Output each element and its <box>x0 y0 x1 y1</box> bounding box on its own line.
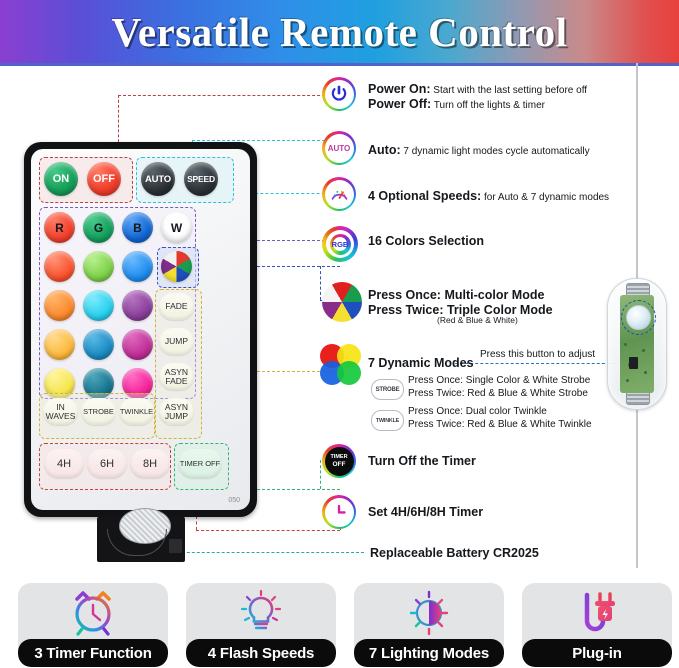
anno-power-lead2: Power Off: <box>368 97 431 111</box>
anno-set-timer-line: Set 4H/6H/8H Timer <box>368 505 483 519</box>
color-button-magenta-purple[interactable] <box>122 329 153 360</box>
page-title: Versatile Remote Control <box>0 0 679 63</box>
auto-glyph-label: AUTO <box>328 144 351 153</box>
button-timer-off-label: TIMER OFF <box>180 459 220 468</box>
remote-face: ON OFF AUTO SPEED R G B W <box>31 149 250 510</box>
color-button-white[interactable]: W <box>161 212 192 243</box>
button-asyn-fade-label: ASYN FADE <box>165 368 188 386</box>
card-flash-speeds[interactable]: 4 Flash Speeds <box>186 583 336 667</box>
button-fade[interactable]: FADE <box>159 293 194 320</box>
timer-off-icon: TIMER OFF <box>322 444 356 478</box>
strobe-pill-label: STROBE <box>376 387 400 393</box>
anno-auto-lead: Auto: <box>368 143 401 157</box>
button-off[interactable]: OFF <box>87 162 121 196</box>
led-marker-ring <box>621 300 656 335</box>
clock-l-icon <box>322 495 356 529</box>
color-button-light-green[interactable] <box>83 251 114 282</box>
connector-adjust <box>455 363 615 364</box>
connector-multicolor <box>247 266 340 267</box>
connector-timeroff <box>247 489 340 490</box>
anno-speed-rest: for Auto & 7 dynamic modes <box>481 192 609 203</box>
button-8h-label: 8H <box>143 458 157 470</box>
button-4h-label: 4H <box>57 458 71 470</box>
anno-strobe-row1: Press Once: Single Color & White Strobe <box>408 375 590 386</box>
lightbulb-icon <box>186 585 336 640</box>
anno-twinkle-row2: Press Twice: Red & Blue & White Twinkle <box>408 419 592 430</box>
button-auto[interactable]: AUTO <box>141 162 175 196</box>
button-speed[interactable]: SPEED <box>184 162 218 196</box>
card-timer-function-label: 3 Timer Function <box>18 639 168 667</box>
anno-rgb-line: 16 Colors Selection <box>368 234 484 248</box>
led-capsule <box>607 278 667 410</box>
button-strobe-label: STROBE <box>83 407 114 416</box>
color-button-orange-red[interactable] <box>44 251 75 282</box>
color-button-orange[interactable] <box>44 290 75 321</box>
color-button-purple[interactable] <box>122 290 153 321</box>
header-divider <box>0 63 679 66</box>
button-asyn-jump-label: ASYN JUMP <box>165 403 188 421</box>
speed-gauge-icon <box>322 177 356 211</box>
clock-l-glyph <box>328 501 350 523</box>
timer-glyph-top: TIMER <box>330 454 347 460</box>
alarm-clock-icon <box>18 585 168 640</box>
button-6h-label: 6H <box>100 458 114 470</box>
button-twinkle-label: TWINKLE <box>120 407 153 416</box>
remote-control: ON OFF AUTO SPEED R G B W <box>24 142 257 517</box>
anno-twinkle-row1: Press Once: Dual color Twinkle <box>408 406 547 417</box>
anno-power-line2: Power Off: Turn off the lights & timer <box>368 95 545 113</box>
card-flash-speeds-label: 4 Flash Speeds <box>186 639 336 667</box>
button-8h[interactable]: 8H <box>130 449 170 478</box>
timer-glyph-bottom: OFF <box>333 461 346 468</box>
button-strobe[interactable]: STROBE <box>81 398 116 425</box>
button-in-waves[interactable]: IN WAVES <box>43 398 78 425</box>
button-asyn-fade[interactable]: ASYN FADE <box>159 363 194 390</box>
color-button-cyan[interactable] <box>83 290 114 321</box>
anno-timeroff-line: Turn Off the Timer <box>368 454 476 468</box>
header-banner: Versatile Remote Control <box>0 0 679 63</box>
multicolor-button[interactable] <box>161 251 192 282</box>
button-jump-label: JUMP <box>165 337 188 346</box>
feature-cards: 3 Timer Function <box>0 583 679 668</box>
color-button-green[interactable]: G <box>83 212 114 243</box>
anno-speed-lead: 4 Optional Speeds: <box>368 189 481 203</box>
button-asyn-jump[interactable]: ASYN JUMP <box>159 398 194 425</box>
battery-tray-arc <box>107 529 167 556</box>
connector-timeroff-v <box>320 460 321 489</box>
adjust-chip <box>629 357 638 369</box>
twinkle-pill-label: TWINKLE <box>376 418 399 424</box>
rgb-glyph-label: RGB <box>332 240 349 249</box>
battery-compartment <box>97 517 185 562</box>
anno-dynamic-title: 7 Dynamic Modes <box>368 356 474 370</box>
card-timer-function[interactable]: 3 Timer Function <box>18 583 168 667</box>
anno-pie-lead2: Press Twice: <box>368 303 444 317</box>
anno-pie-rest1: Multi-color Mode <box>441 288 544 302</box>
power-glyph <box>329 84 349 104</box>
gauge-glyph <box>329 184 350 205</box>
card-lighting-modes[interactable]: 7 Lighting Modes <box>354 583 504 667</box>
connector-hours <box>196 530 340 531</box>
infographic-page: Versatile Remote Control <box>0 0 679 668</box>
auto-icon: AUTO <box>322 131 356 165</box>
button-jump[interactable]: JUMP <box>159 328 194 355</box>
anno-pie-lead1: Press Once: <box>368 288 441 302</box>
connector-multicolor-v <box>320 266 321 300</box>
button-on[interactable]: ON <box>44 162 78 196</box>
color-button-teal-blue[interactable] <box>83 329 114 360</box>
button-4h[interactable]: 4H <box>44 449 84 478</box>
remote-serial: 050 <box>228 497 240 504</box>
color-button-sky-blue[interactable] <box>122 251 153 282</box>
button-in-waves-label: IN WAVES <box>46 403 76 421</box>
button-timer-off[interactable]: TIMER OFF <box>178 449 222 478</box>
battery-tray-tab <box>169 539 182 553</box>
twinkle-pill-icon: TWINKLE <box>371 410 404 431</box>
battery-note: Replaceable Battery CR2025 <box>370 546 539 560</box>
connector-auto <box>192 140 340 141</box>
button-6h[interactable]: 6H <box>87 449 127 478</box>
card-lighting-modes-label: 7 Lighting Modes <box>354 639 504 667</box>
strobe-pill-icon: STROBE <box>371 379 404 400</box>
card-plug-in[interactable]: Plug-in <box>522 583 672 667</box>
button-twinkle[interactable]: TWINKLE <box>119 398 154 425</box>
color-button-blue[interactable]: B <box>122 212 153 243</box>
anno-power-lead1: Power On: <box>368 82 431 96</box>
button-fade-label: FADE <box>165 302 187 311</box>
rgb-wheel-icon: RGB <box>322 226 358 262</box>
brightness-sun-icon <box>354 585 504 640</box>
anno-dynamic-callout: Press this button to adjust <box>480 349 595 360</box>
color-button-amber[interactable] <box>44 329 75 360</box>
anno-auto-rest: 7 dynamic light modes cycle automaticall… <box>401 146 590 157</box>
power-icon <box>322 77 356 111</box>
anno-strobe-row2: Press Twice: Red & Blue & White Strobe <box>408 388 588 399</box>
connector-power <box>118 95 340 96</box>
power-plug-icon <box>522 585 672 640</box>
color-button-red[interactable]: R <box>44 212 75 243</box>
anno-power-rest2: Turn off the lights & timer <box>431 100 545 111</box>
anno-pie-note: (Red & Blue & White) <box>437 315 518 325</box>
anno-auto-line: Auto: 7 dynamic light modes cycle automa… <box>368 141 590 159</box>
anno-speed-line: 4 Optional Speeds: for Auto & 7 dynamic … <box>368 187 609 205</box>
color-pie-icon <box>322 282 362 322</box>
card-plug-in-label: Plug-in <box>522 639 672 667</box>
four-circles-icon <box>320 344 364 388</box>
